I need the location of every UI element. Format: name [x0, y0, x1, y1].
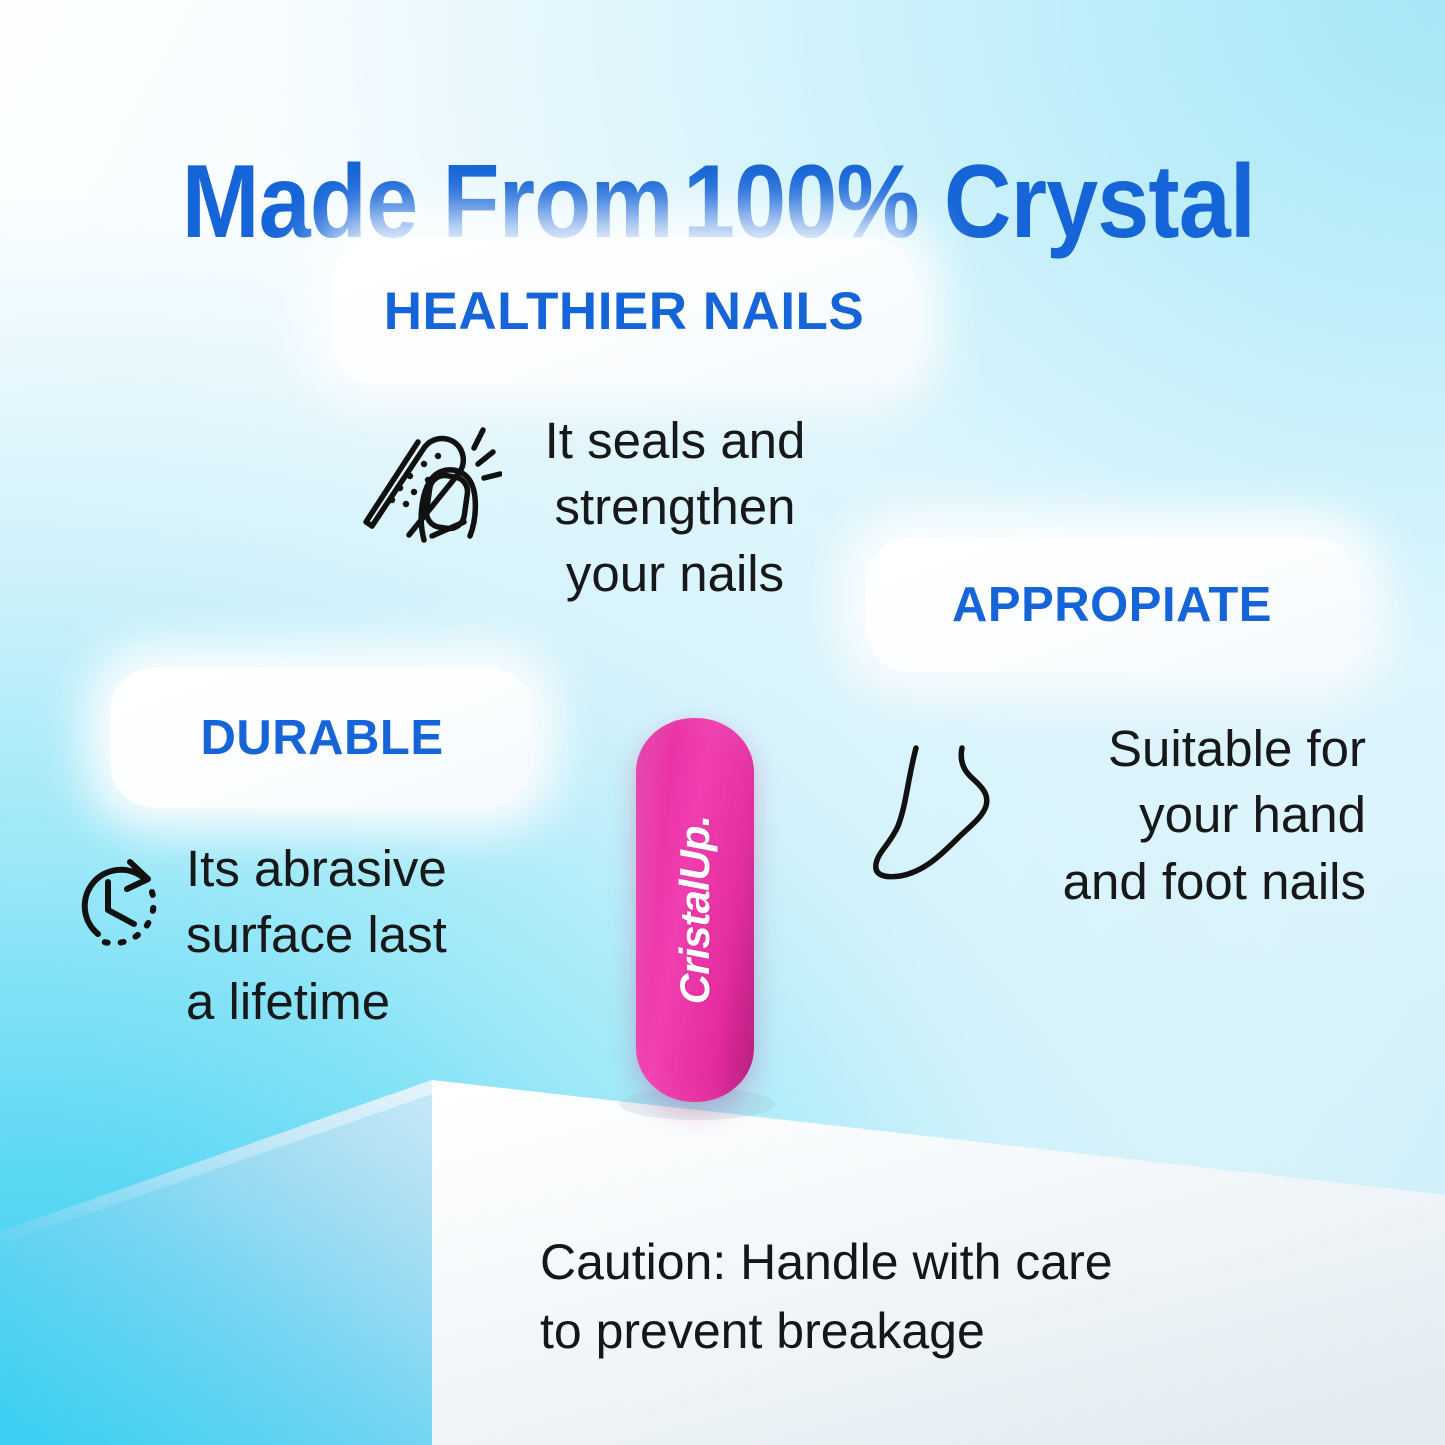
feature-line-2: surface last: [186, 906, 447, 963]
feature-durable-text: Its abrasive surface last a lifetime: [186, 836, 516, 1035]
feature-line-1: It seals and: [545, 412, 806, 469]
feature-healthier-nails-text: It seals and strengthen your nails: [528, 408, 822, 607]
badge-durable: DURABLE: [110, 668, 534, 808]
podium-left-face: [0, 1080, 432, 1445]
product-nail-file: CristalUp.: [636, 718, 754, 1102]
caution-line-2: to prevent breakage: [540, 1297, 1240, 1366]
feature-appropiate: Suitable for your hand and foot nails: [866, 716, 1366, 915]
feature-line-2: your hand: [1139, 786, 1366, 843]
feature-line-1: Its abrasive: [186, 840, 447, 897]
badge-durable-label: DURABLE: [200, 710, 443, 766]
feature-appropiate-text: Suitable for your hand and foot nails: [1022, 716, 1366, 915]
feature-line-2: strengthen: [554, 478, 795, 535]
infographic-canvas: Made From100% Crystal HEALTHIER NAILS AP…: [0, 0, 1445, 1445]
nail-file-filing-finger-icon: [352, 414, 502, 549]
foot-outline-icon: [866, 726, 1006, 891]
product-brand-logo: CristalUp.: [671, 816, 719, 1004]
feature-line-1: Suitable for: [1108, 720, 1366, 777]
feature-durable: Its abrasive surface last a lifetime: [60, 836, 520, 1035]
clock-lifetime-icon: [60, 848, 168, 965]
podium-ridge-highlight: [0, 1080, 432, 1248]
feature-line-3: your nails: [566, 545, 784, 602]
feature-line-3: a lifetime: [186, 973, 390, 1030]
badge-appropiate: APPROPIATE: [866, 538, 1358, 672]
caution-note: Caution: Handle with care to prevent bre…: [540, 1228, 1240, 1366]
feature-healthier-nails: It seals and strengthen your nails: [352, 408, 822, 607]
badge-healthier-nails-label: HEALTHIER NAILS: [384, 281, 865, 342]
badge-healthier-nails: HEALTHIER NAILS: [332, 238, 916, 384]
badge-appropiate-label: APPROPIATE: [952, 577, 1272, 633]
caution-line-1: Caution: Handle with care: [540, 1228, 1240, 1297]
feature-line-3: and foot nails: [1063, 853, 1366, 910]
